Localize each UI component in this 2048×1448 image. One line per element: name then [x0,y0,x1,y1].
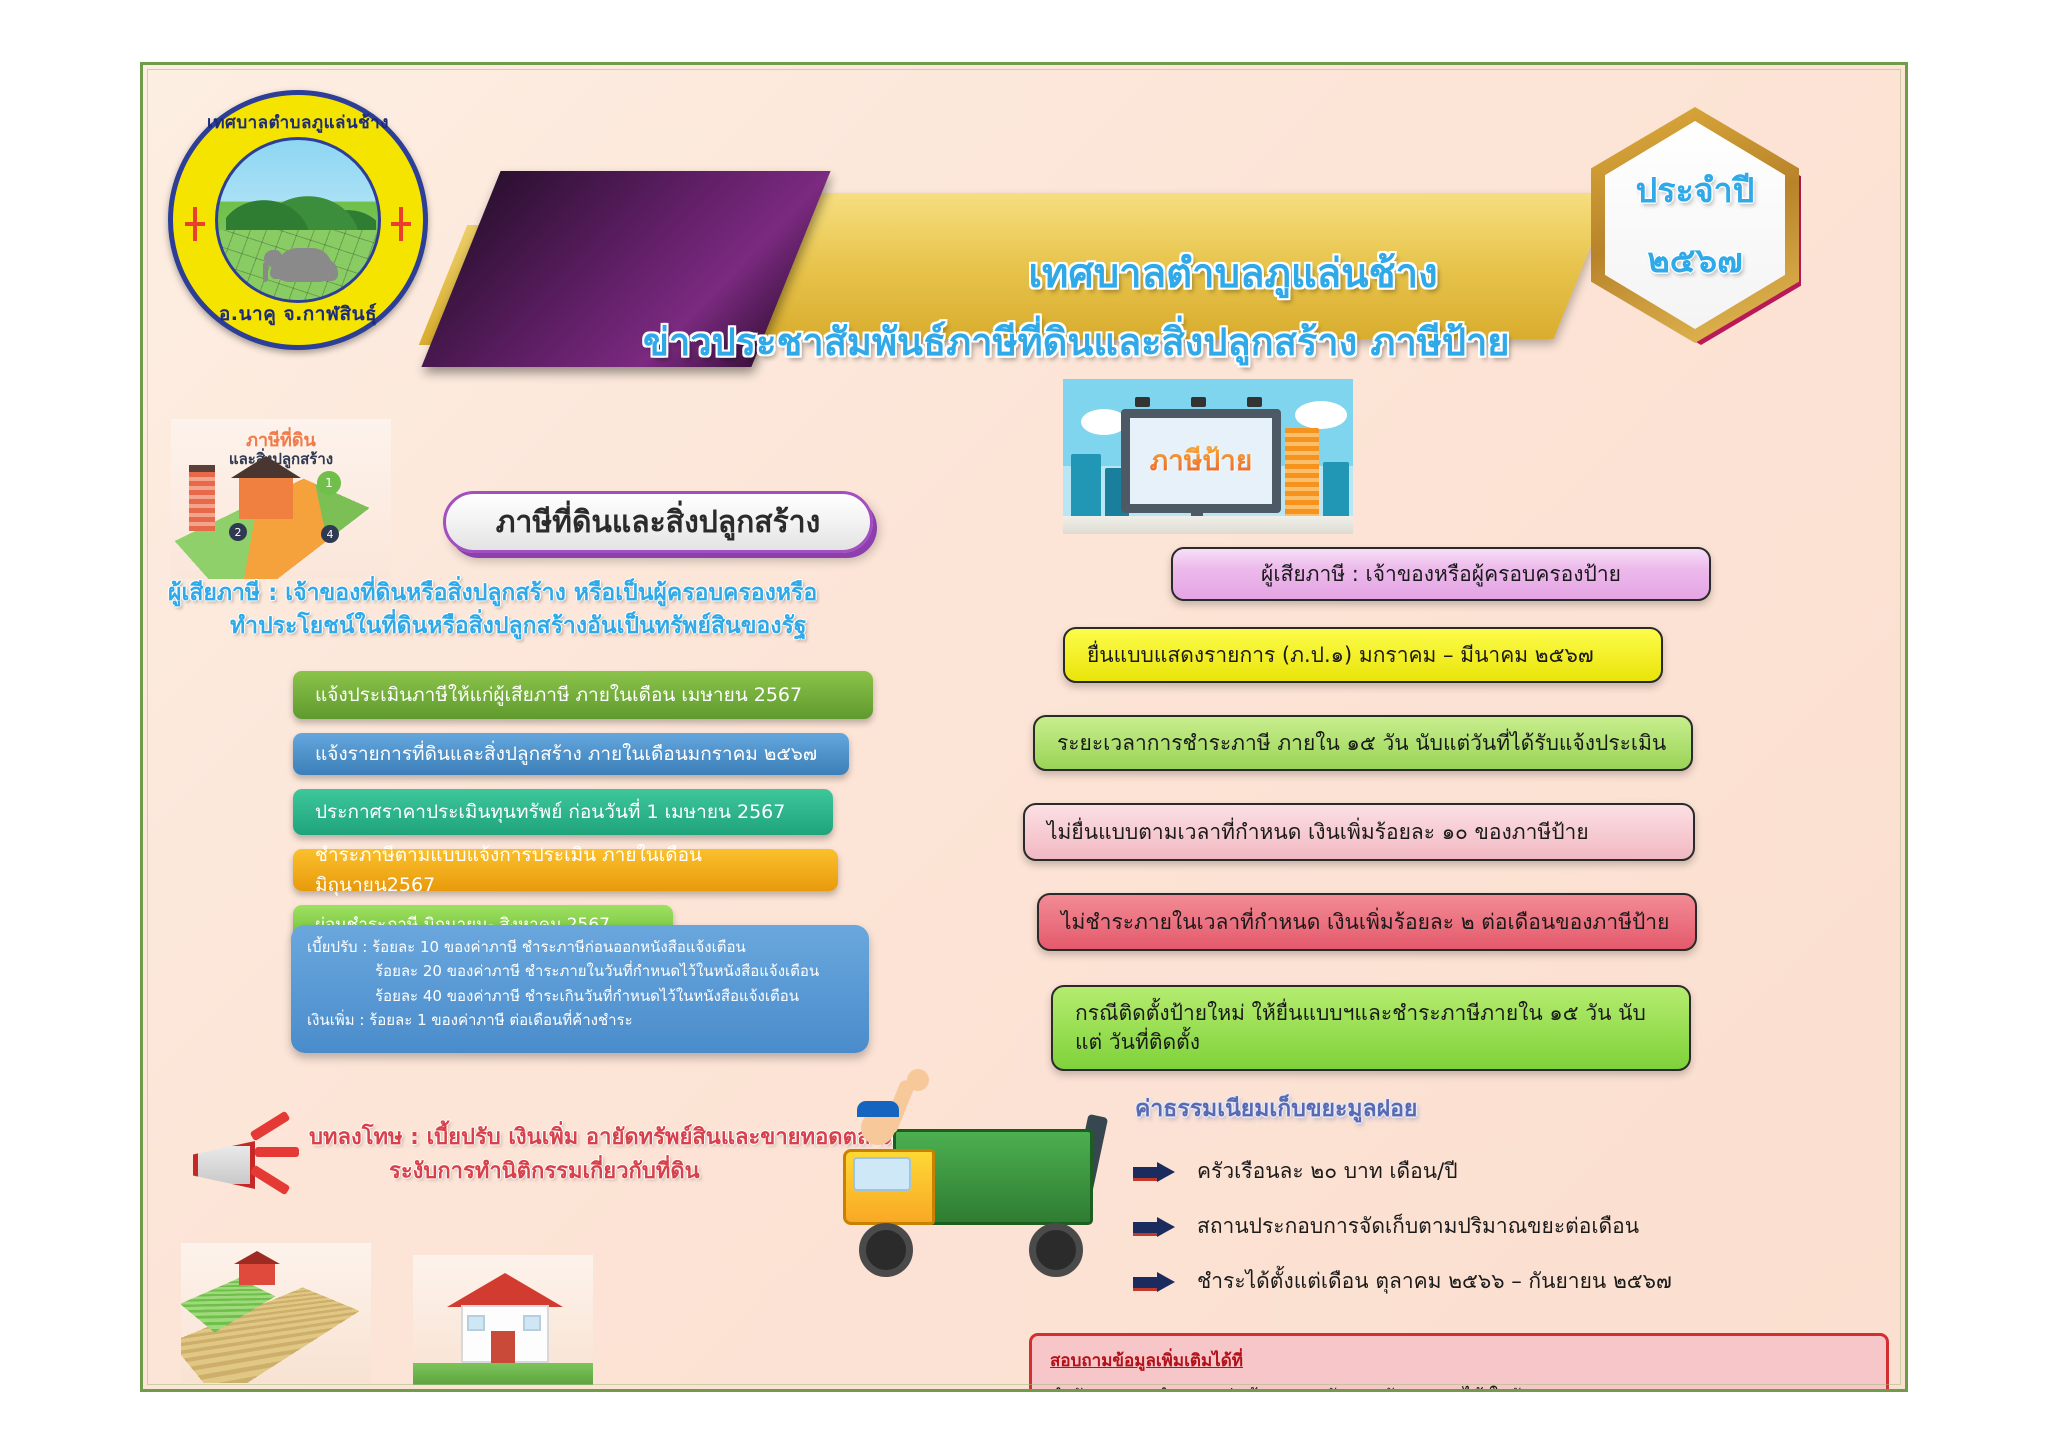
badge-label: ประจำปี [1636,163,1755,217]
farmland-illustration [181,1243,371,1383]
badge-year: ๒๕๖๗ [1647,233,1742,287]
poster-canvas: เทศบาลตำบลภูแล่นช้าง อ.นาคู จ.กาฬสินธุ์ … [140,62,1908,1392]
truck-windshield-icon [853,1157,911,1191]
list-item: ชำระได้ตั้งแต่เดือน ตุลาคม ๒๕๖๖ – กันยาย… [1133,1265,1893,1298]
timeline-item-property-listing: แจ้งรายการที่ดินและสิ่งปลูกสร้าง ภายในเด… [293,733,849,775]
billboard-lamp-icon [1247,397,1262,407]
marker-4: 4 [321,525,339,543]
land-tax-section-title-label: ภาษีที่ดินและสิ่งปลูกสร้าง [496,499,820,546]
penalty-line-1: เบี้ยปรับ : ร้อยละ 10 ของค่าภาษี ชำระภาษ… [307,938,746,956]
garbage-fee-item-label: ครัวเรือนละ ๒๐ บาท เดือน/ปี [1197,1155,1458,1188]
billboard-illustration: ภาษีป้าย [1063,379,1353,534]
seal-bottom-text: อ.นาคู จ.กาฬสินธุ์ [173,299,423,329]
timeline-item-label: แจ้งรายการที่ดินและสิ่งปลูกสร้าง ภายในเด… [315,739,817,769]
barn-icon [239,1263,275,1285]
truck-wheel-icon [859,1223,913,1277]
contact-box: สอบถามข้อมูลเพิ่มเติมได้ที่ สำนักงานเทศต… [1029,1333,1889,1392]
municipality-seal: เทศบาลตำบลภูแล่นช้าง อ.นาคู จ.กาฬสินธุ์ [168,90,428,350]
timeline-item-appraisal-announcement: ประกาศราคาประเมินทุนทรัพย์ ก่อนวันที่ 1 … [293,789,833,835]
cloud-icon [1295,401,1347,429]
land-taxpayer-line-1: ผู้เสียภาษี : เจ้าของที่ดินหรือสิ่งปลูกส… [168,580,817,606]
land-tax-timeline-list: แจ้งประเมินภาษีให้แก่ผู้เสียภาษี ภายในเด… [293,671,933,957]
sign-new-installation-box: กรณีติดตั้งป้ายใหม่ ให้ยื่นแบบฯและชำระภา… [1051,985,1691,1071]
sign-late-filing-penalty-box: ไม่ยื่นแบบตามเวลาที่กำหนด เงินเพิ่มร้อยล… [1023,803,1695,861]
timeline-item-assessment-notice: แจ้งประเมินภาษีให้แก่ผู้เสียภาษี ภายในเด… [293,671,873,719]
seal-emblem-icon [215,137,381,303]
contact-heading: สอบถามข้อมูลเพิ่มเติมได้ที่ [1050,1347,1868,1374]
elephant-icon [276,248,332,282]
punishment-line-1: บทลงโทษ : เบี้ยปรับ เงินเพิ่ม อายัดทรัพย… [309,1125,897,1150]
sign-late-payment-penalty-label: ไม่ชำระภายในเวลาที่กำหนด เงินเพิ่มร้อยละ… [1061,906,1669,939]
page-title: เทศบาลตำบลภูแล่นช้าง [643,241,1703,305]
city-building-icon [1323,462,1349,516]
billboard-panel: ภาษีป้าย [1121,409,1281,513]
billboard-lamp-icon [1191,397,1206,407]
land-taxpayer-line-2: ทำประโยชน์ในที่ดินหรือสิ่งปลูกสร้างอันเป… [168,610,998,643]
seal-top-text: เทศบาลตำบลภูแล่นช้าง [173,109,423,136]
megaphone-wave-icon [255,1147,299,1157]
megaphone-wave-icon [250,1111,291,1142]
garbage-fee-title: ค่าธรรมเนียมเก็บขยะมูลฝอย [1135,1091,1417,1127]
sign-late-filing-penalty-label: ไม่ยื่นแบบตามเวลาที่กำหนด เงินเพิ่มร้อยล… [1047,816,1589,849]
contact-details: สำนักงานเทศตำบลภูแล่นช้าง กองคลัง งานพัฒ… [1050,1381,1868,1392]
window-icon [523,1315,541,1331]
marker-2: 2 [229,523,247,541]
arrow-right-icon [1133,1217,1177,1237]
megaphone-icon [189,1115,299,1209]
house-icon [239,477,293,519]
penalty-line-2: ร้อยละ 20 ของค่าภาษี ชำระภายในวันที่กำหน… [307,959,853,983]
timeline-item-label: แจ้งประเมินภาษีให้แก่ผู้เสียภาษี ภายในเด… [315,680,802,710]
garbage-fee-list: ครัวเรือนละ ๒๐ บาท เดือน/ปี สถานประกอบกา… [1133,1155,1893,1320]
city-building-icon [1071,454,1101,516]
city-building-icon [1285,428,1319,516]
sign-payment-period-box: ระยะเวลาการชำระภาษี ภายใน ๑๕ วัน นับแต่ว… [1033,715,1693,771]
sign-late-payment-penalty-box: ไม่ชำระภายในเวลาที่กำหนด เงินเพิ่มร้อยละ… [1037,893,1697,951]
land-tax-penalty-box: เบี้ยปรับ : ร้อยละ 10 ของค่าภาษี ชำระภาษ… [291,925,869,1053]
timeline-item-label: ชำระภาษีตามแบบแจ้งการประเมิน ภายในเดือนม… [315,840,816,900]
sign-taxpayer-label: ผู้เสียภาษี : เจ้าของหรือผู้ครอบครองป้าย [1261,558,1621,591]
door-icon [491,1331,515,1363]
sign-payment-period-label: ระยะเวลาการชำระภาษี ภายใน ๑๕ วัน นับแต่ว… [1057,727,1666,760]
timeline-item-payment: ชำระภาษีตามแบบแจ้งการประเมิน ภายในเดือนม… [293,849,838,891]
page-subtitle: ข่าวประชาสัมพันธ์ภาษีที่ดินและสิ่งปลูกสร… [643,311,1703,372]
garbage-fee-item-label: สถานประกอบการจัดเก็บตามปริมาณขยะต่อเดือน [1197,1210,1639,1243]
window-icon [467,1315,485,1331]
sign-new-installation-label: กรณีติดตั้งป้ายใหม่ ให้ยื่นแบบฯและชำระภา… [1075,999,1667,1057]
garbage-fee-item-label: ชำระได้ตั้งแต่เดือน ตุลาคม ๒๕๖๖ – กันยาย… [1197,1265,1672,1298]
billboard-lamp-icon [1135,397,1150,407]
arrow-right-icon [1133,1162,1177,1182]
land-tax-section-title: ภาษีที่ดินและสิ่งปลูกสร้าง [443,491,873,553]
roof-icon [447,1273,563,1307]
worker-cap-icon [857,1101,899,1117]
seal-star-left-icon [185,207,205,241]
apartment-building-icon [189,465,215,531]
land-tax-illustration: ภาษีที่ดิน และสิ่งปลูกสร้าง 1 2 4 [171,419,391,579]
sign-filing-period-box: ยื่นแบบแสดงรายการ (ภ.ป.๑) มกราคม – มีนาค… [1063,627,1663,683]
sign-filing-period-label: ยื่นแบบแสดงรายการ (ภ.ป.๑) มกราคม – มีนาค… [1087,639,1594,672]
sign-taxpayer-box: ผู้เสียภาษี : เจ้าของหรือผู้ครอบครองป้าย [1171,547,1711,601]
grass-icon [413,1363,593,1385]
land-tax-column: ภาษีที่ดิน และสิ่งปลูกสร้าง 1 2 4 ภาษีที… [143,365,1023,1392]
billboard-label: ภาษีป้าย [1150,439,1253,483]
marker-1: 1 [317,471,341,495]
land-taxpayer-description: ผู้เสียภาษี : เจ้าของที่ดินหรือสิ่งปลูกส… [168,577,998,644]
list-item: สถานประกอบการจัดเก็บตามปริมาณขยะต่อเดือน [1133,1210,1893,1243]
ground-icon [1063,516,1353,534]
year-badge: ประจำปี ๒๕๖๗ [1587,95,1817,355]
penalty-line-3: ร้อยละ 40 ของค่าภาษี ชำระเกินวันที่กำหนด… [307,984,853,1008]
megaphone-cone-icon [193,1141,255,1189]
signboard-tax-column: ภาษีป้าย ผู้เสียภาษี : เจ้าของหรือผู้ครอ… [1023,365,1908,1392]
megaphone-wave-icon [250,1165,291,1196]
house-illustration [413,1255,593,1385]
penalty-line-4: เงินเพิ่ม : ร้อยละ 1 ของค่าภาษี ต่อเดือน… [307,1011,633,1029]
arrow-right-icon [1133,1272,1177,1292]
poster-header: เทศบาลตำบลภูแล่นช้าง อ.นาคู จ.กาฬสินธุ์ … [143,65,1905,355]
seal-star-right-icon [391,207,411,241]
header-title-block: เทศบาลตำบลภูแล่นช้าง ข่าวประชาสัมพันธ์ภา… [643,241,1703,372]
list-item: ครัวเรือนละ ๒๐ บาท เดือน/ปี [1133,1155,1893,1188]
timeline-item-label: ประกาศราคาประเมินทุนทรัพย์ ก่อนวันที่ 1 … [315,797,785,827]
worker-hand-icon [907,1069,929,1091]
